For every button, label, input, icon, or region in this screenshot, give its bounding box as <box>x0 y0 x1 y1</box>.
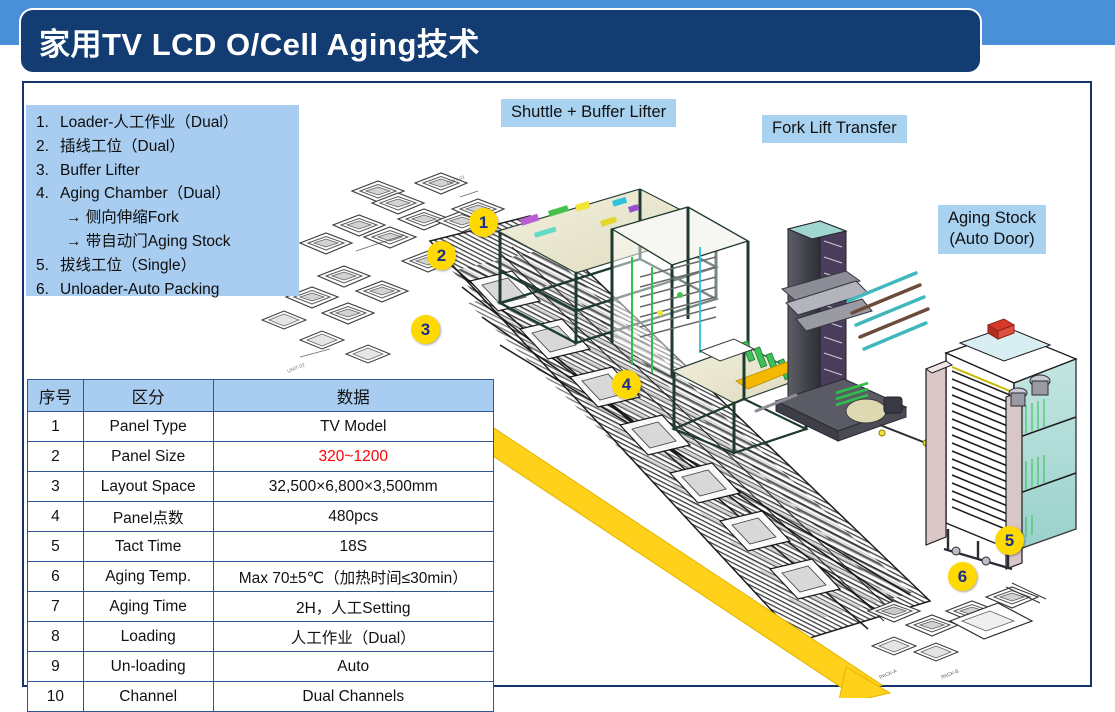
table-cell-div: Loading <box>83 622 213 652</box>
table-cell-data: TV Model <box>213 412 494 442</box>
table-cell-no: 9 <box>28 652 84 682</box>
table-row: 2Panel Size320~1200 <box>28 442 494 472</box>
list-item-label: 插线工位（Dual） <box>60 135 185 159</box>
table-cell-div: Un-loading <box>83 652 213 682</box>
step-badge-2: 2 <box>427 241 456 270</box>
table-row: 3Layout Space32,500×6,800×3,500mm <box>28 472 494 502</box>
table-cell-data: 18S <box>213 532 494 562</box>
list-item-number: 1. <box>36 111 60 135</box>
list-item: 5. 拔线工位（Single） <box>36 254 291 278</box>
table-cell-no: 8 <box>28 622 84 652</box>
list-item-label: Unloader-Auto Packing <box>60 278 219 302</box>
process-step-list: 1. Loader-人工作业（Dual） 2. 插线工位（Dual） 3. Bu… <box>26 105 299 296</box>
list-sub-item: → 侧向伸缩Fork <box>36 206 291 230</box>
table-cell-data: Max 70±5℃（加热时间≤30min） <box>213 562 494 592</box>
spec-table: 序号 区分 数据 1Panel TypeTV Model2Panel Size3… <box>27 379 494 712</box>
table-row: 1Panel TypeTV Model <box>28 412 494 442</box>
table-cell-data: 320~1200 <box>213 442 494 472</box>
callout-aging-stock: Aging Stock (Auto Door) <box>938 205 1046 254</box>
table-cell-data: 480pcs <box>213 502 494 532</box>
table-cell-no: 6 <box>28 562 84 592</box>
list-item-number: 2. <box>36 135 60 159</box>
table-cell-no: 4 <box>28 502 84 532</box>
table-header-data: 数据 <box>213 380 494 412</box>
table-row: 6Aging Temp.Max 70±5℃（加热时间≤30min） <box>28 562 494 592</box>
step-badge-3: 3 <box>411 315 440 344</box>
list-item-label: Loader-人工作业（Dual） <box>60 111 238 135</box>
table-row: 7Aging Time2H，人工Setting <box>28 592 494 622</box>
table-cell-no: 3 <box>28 472 84 502</box>
list-sub-item: → 带自动门Aging Stock <box>36 230 291 254</box>
list-item-label: Buffer Lifter <box>60 159 140 183</box>
step-badge-6: 6 <box>948 562 977 591</box>
table-cell-div: Layout Space <box>83 472 213 502</box>
table-header-no: 序号 <box>28 380 84 412</box>
table-cell-data: 32,500×6,800×3,500mm <box>213 472 494 502</box>
page-title: 家用TV LCD O/Cell Aging技术 <box>39 19 480 64</box>
list-item: 4. Aging Chamber（Dual） <box>36 182 291 206</box>
table-cell-data: Auto <box>213 652 494 682</box>
table-cell-no: 5 <box>28 532 84 562</box>
table-cell-div: Panel Type <box>83 412 213 442</box>
table-cell-div: Tact Time <box>83 532 213 562</box>
table-cell-no: 1 <box>28 412 84 442</box>
callout-fork-lift-transfer: Fork Lift Transfer <box>762 115 907 143</box>
table-header-div: 区分 <box>83 380 213 412</box>
table-header-row: 序号 区分 数据 <box>28 380 494 412</box>
list-item: 2. 插线工位（Dual） <box>36 135 291 159</box>
table-row: 4Panel点数480pcs <box>28 502 494 532</box>
step-badge-1: 1 <box>469 208 498 237</box>
table-cell-div: Channel <box>83 682 213 712</box>
list-item-number: 5. <box>36 254 60 278</box>
table-row: 8Loading人工作业（Dual） <box>28 622 494 652</box>
callout-shuttle-buffer-lifter: Shuttle + Buffer Lifter <box>501 99 676 127</box>
step-badge-5: 5 <box>995 526 1024 555</box>
slide-title-bar: 家用TV LCD O/Cell Aging技术 <box>21 10 980 72</box>
table-row: 5Tact Time18S <box>28 532 494 562</box>
table-cell-div: Panel Size <box>83 442 213 472</box>
table-row: 9Un-loadingAuto <box>28 652 494 682</box>
table-cell-div: Aging Temp. <box>83 562 213 592</box>
list-item: 6. Unloader-Auto Packing <box>36 278 291 302</box>
list-item: 1. Loader-人工作业（Dual） <box>36 111 291 135</box>
list-item-number: 6. <box>36 278 60 302</box>
table-cell-data: 2H，人工Setting <box>213 592 494 622</box>
table-cell-div: Panel点数 <box>83 502 213 532</box>
table-cell-no: 10 <box>28 682 84 712</box>
list-item-number: 3. <box>36 159 60 183</box>
table-row: 10ChannelDual Channels <box>28 682 494 712</box>
table-cell-no: 2 <box>28 442 84 472</box>
list-item-label: 拔线工位（Single） <box>60 254 196 278</box>
table-cell-div: Aging Time <box>83 592 213 622</box>
step-badge-4: 4 <box>612 370 641 399</box>
list-item: 3. Buffer Lifter <box>36 159 291 183</box>
table-cell-data: 人工作业（Dual） <box>213 622 494 652</box>
list-item-label: Aging Chamber（Dual） <box>60 182 231 206</box>
list-item-number: 4. <box>36 182 60 206</box>
table-cell-no: 7 <box>28 592 84 622</box>
table-cell-data: Dual Channels <box>213 682 494 712</box>
